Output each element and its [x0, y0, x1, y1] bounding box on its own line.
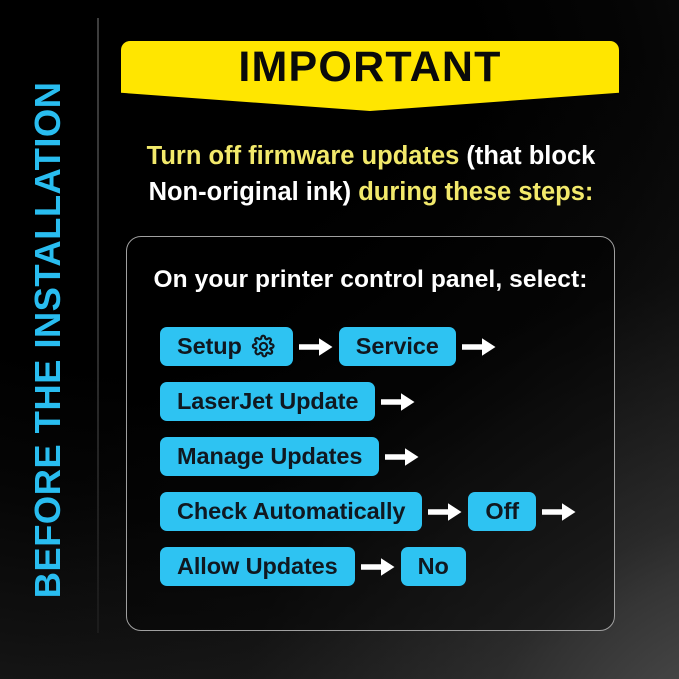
- chip-label: Check Automatically: [177, 498, 405, 525]
- subtitle: Turn off firmware updates (that block No…: [121, 138, 621, 210]
- step-chip-allow-updates[interactable]: Allow Updates: [160, 547, 355, 586]
- step-row: Allow UpdatesNo: [127, 539, 614, 594]
- side-title-text: BEFORE THE INSTALLATION: [30, 81, 67, 598]
- steps-list: SetupServiceLaserJet UpdateManage Update…: [127, 319, 614, 594]
- banner-label: IMPORTANT: [121, 46, 619, 89]
- chip-label: LaserJet Update: [177, 388, 358, 415]
- step-chip-check-automatically[interactable]: Check Automatically: [160, 492, 422, 531]
- step-chip-no[interactable]: No: [401, 547, 466, 586]
- subtitle-line1-yellow: Turn off firmware updates: [147, 142, 467, 170]
- chip-label: Manage Updates: [177, 443, 362, 470]
- chip-label: No: [418, 553, 449, 580]
- steps-panel: On your printer control panel, select: S…: [126, 236, 615, 631]
- step-chip-manage-updates[interactable]: Manage Updates: [160, 437, 379, 476]
- side-title-container: BEFORE THE INSTALLATION: [0, 0, 96, 679]
- arrow-right-icon: [422, 492, 468, 531]
- poster-root: BEFORE THE INSTALLATION IMPORTANT Turn o…: [0, 0, 679, 679]
- step-chip-laserjet-update[interactable]: LaserJet Update: [160, 382, 375, 421]
- gear-icon: [251, 334, 276, 359]
- chip-label: Off: [485, 498, 519, 525]
- step-chip-setup[interactable]: Setup: [160, 327, 293, 366]
- chip-label: Allow Updates: [177, 553, 338, 580]
- chip-label: Setup: [177, 333, 242, 360]
- arrow-right-icon: [536, 492, 582, 531]
- arrow-right-icon: [379, 437, 425, 476]
- arrow-right-icon: [355, 547, 401, 586]
- arrow-right-icon: [456, 327, 502, 366]
- step-row: LaserJet Update: [127, 374, 614, 429]
- subtitle-line2-yellow: during these steps:: [351, 178, 593, 206]
- step-chip-service[interactable]: Service: [339, 327, 456, 366]
- arrow-right-icon: [293, 327, 339, 366]
- step-row: Check AutomaticallyOff: [127, 484, 614, 539]
- step-row: SetupService: [127, 319, 614, 374]
- side-divider: [97, 18, 99, 633]
- step-row: Manage Updates: [127, 429, 614, 484]
- chip-label: Service: [356, 333, 439, 360]
- panel-heading: On your printer control panel, select:: [127, 266, 614, 294]
- subtitle-line2-white: Non-original ink): [149, 178, 352, 206]
- arrow-right-icon: [375, 382, 421, 421]
- subtitle-line1-white: (that block: [466, 142, 595, 170]
- step-chip-off[interactable]: Off: [468, 492, 536, 531]
- important-banner: IMPORTANT: [121, 41, 619, 111]
